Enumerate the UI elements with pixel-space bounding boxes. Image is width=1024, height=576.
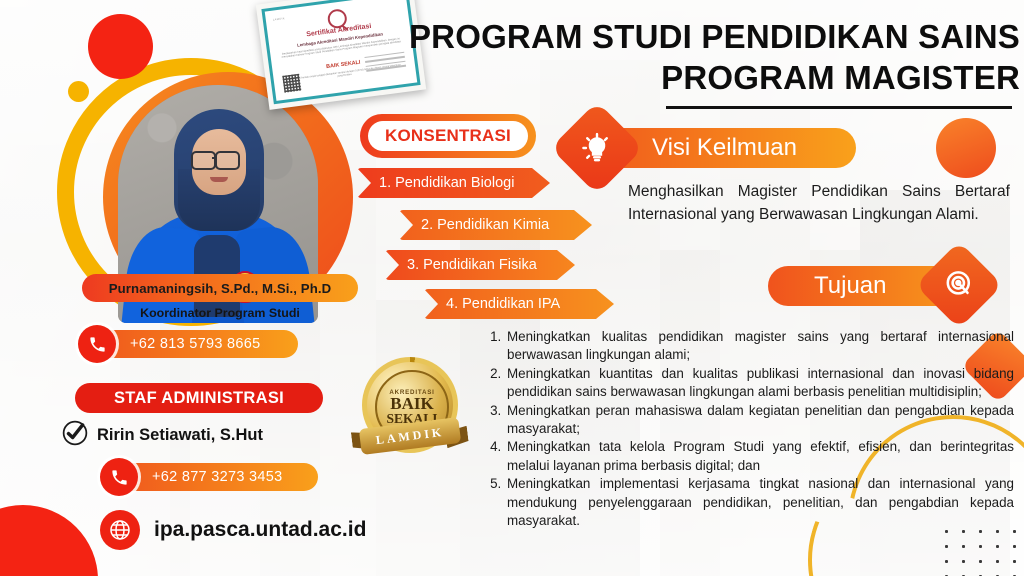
tujuan-item: Meningkatkan tata kelola Program Studi y… (505, 438, 1014, 475)
konsentrasi-item-1[interactable]: 1. Pendidikan Biologi (357, 168, 550, 198)
website-row[interactable]: ipa.pasca.untad.ac.id (100, 510, 366, 550)
konsentrasi-item-1-label: 1. Pendidikan Biologi (357, 175, 514, 191)
lightbulb-icon (580, 131, 614, 165)
konsentrasi-heading-label: KONSENTRASI (385, 126, 511, 146)
coordinator-phone-row[interactable]: +62 813 5793 8665 (78, 325, 298, 363)
konsentrasi-item-3[interactable]: 3. Pendidikan Fisika (385, 250, 575, 280)
visi-heading-label: Visi Keilmuan (652, 134, 797, 162)
coordinator-name-pill: Purnamaningsih, S.Pd., M.Si., Ph.D (82, 274, 358, 302)
seal-ribbon-text: LAMDIK (375, 424, 445, 447)
poster-canvas: LAMDIK Sertifikat Akreditasi Lembaga Akr… (0, 0, 1024, 576)
coordinator-phone-bar: +62 813 5793 8665 (102, 330, 298, 358)
dot-grid-decoration (938, 524, 1022, 576)
orange-circle-decoration-right (936, 118, 996, 178)
staff-phone: +62 877 3273 3453 (152, 469, 283, 485)
seal-ribbon: LAMDIK (354, 417, 466, 457)
konsentrasi-item-4[interactable]: 4. Pendidikan IPA (424, 289, 614, 319)
coordinator-name: Purnamaningsih, S.Pd., M.Si., Ph.D (109, 281, 332, 296)
accreditation-seal: AKREDITASI BAIK SEKALI LAMDIK (358, 357, 462, 461)
coordinator-role: Koordinator Program Studi (82, 306, 358, 320)
check-icon (62, 420, 88, 451)
page-title: PROGRAM STUDI PENDIDIKAN SAINS PROGRAM M… (396, 16, 1020, 98)
tujuan-item: Meningkatkan kuantitas dan kualitas publ… (505, 365, 1014, 402)
yellow-knob-decoration (68, 81, 89, 102)
phone-icon (100, 458, 138, 496)
staff-section-label: STAF ADMINISTRASI (114, 389, 284, 408)
certificate-qr-code (282, 74, 301, 93)
staff-name: Ririn Setiawati, S.Hut (97, 426, 263, 445)
visi-text: Menghasilkan Magister Pendidikan Sains B… (628, 180, 1010, 226)
coordinator-phone: +62 813 5793 8665 (130, 336, 261, 352)
seal-grade-line1: BAIK (390, 396, 433, 412)
globe-icon (100, 510, 140, 550)
staff-phone-row[interactable]: +62 877 3273 3453 (100, 458, 318, 496)
tujuan-heading-label: Tujuan (814, 272, 887, 300)
konsentrasi-item-2-label: 2. Pendidikan Kimia (399, 217, 549, 233)
tujuan-item: Meningkatkan kualitas pendidikan magiste… (505, 328, 1014, 365)
konsentrasi-heading: KONSENTRASI (360, 114, 536, 158)
staff-phone-bar: +62 877 3273 3453 (124, 463, 318, 491)
konsentrasi-item-3-label: 3. Pendidikan Fisika (385, 257, 537, 273)
tujuan-item: Meningkatkan implementasi kerjasama ting… (505, 475, 1014, 530)
staff-section-heading: STAF ADMINISTRASI (75, 383, 323, 413)
title-underline (666, 106, 1012, 109)
staff-name-row: Ririn Setiawati, S.Hut (62, 420, 263, 451)
konsentrasi-item-4-label: 4. Pendidikan IPA (424, 296, 560, 312)
website-url[interactable]: ipa.pasca.untad.ac.id (154, 518, 366, 542)
target-icon (942, 268, 976, 302)
title-line-1: PROGRAM STUDI PENDIDIKAN SAINS (409, 18, 1020, 55)
certificate-corner-label: LAMDIK (273, 17, 285, 22)
phone-icon (78, 325, 116, 363)
tujuan-item: Meningkatkan peran mahasiswa dalam kegia… (505, 402, 1014, 439)
title-line-2: PROGRAM MAGISTER (396, 57, 1020, 98)
konsentrasi-item-2[interactable]: 2. Pendidikan Kimia (399, 210, 592, 240)
red-circle-decoration-top (88, 14, 153, 79)
tujuan-list: Meningkatkan kualitas pendidikan magiste… (487, 328, 1014, 530)
